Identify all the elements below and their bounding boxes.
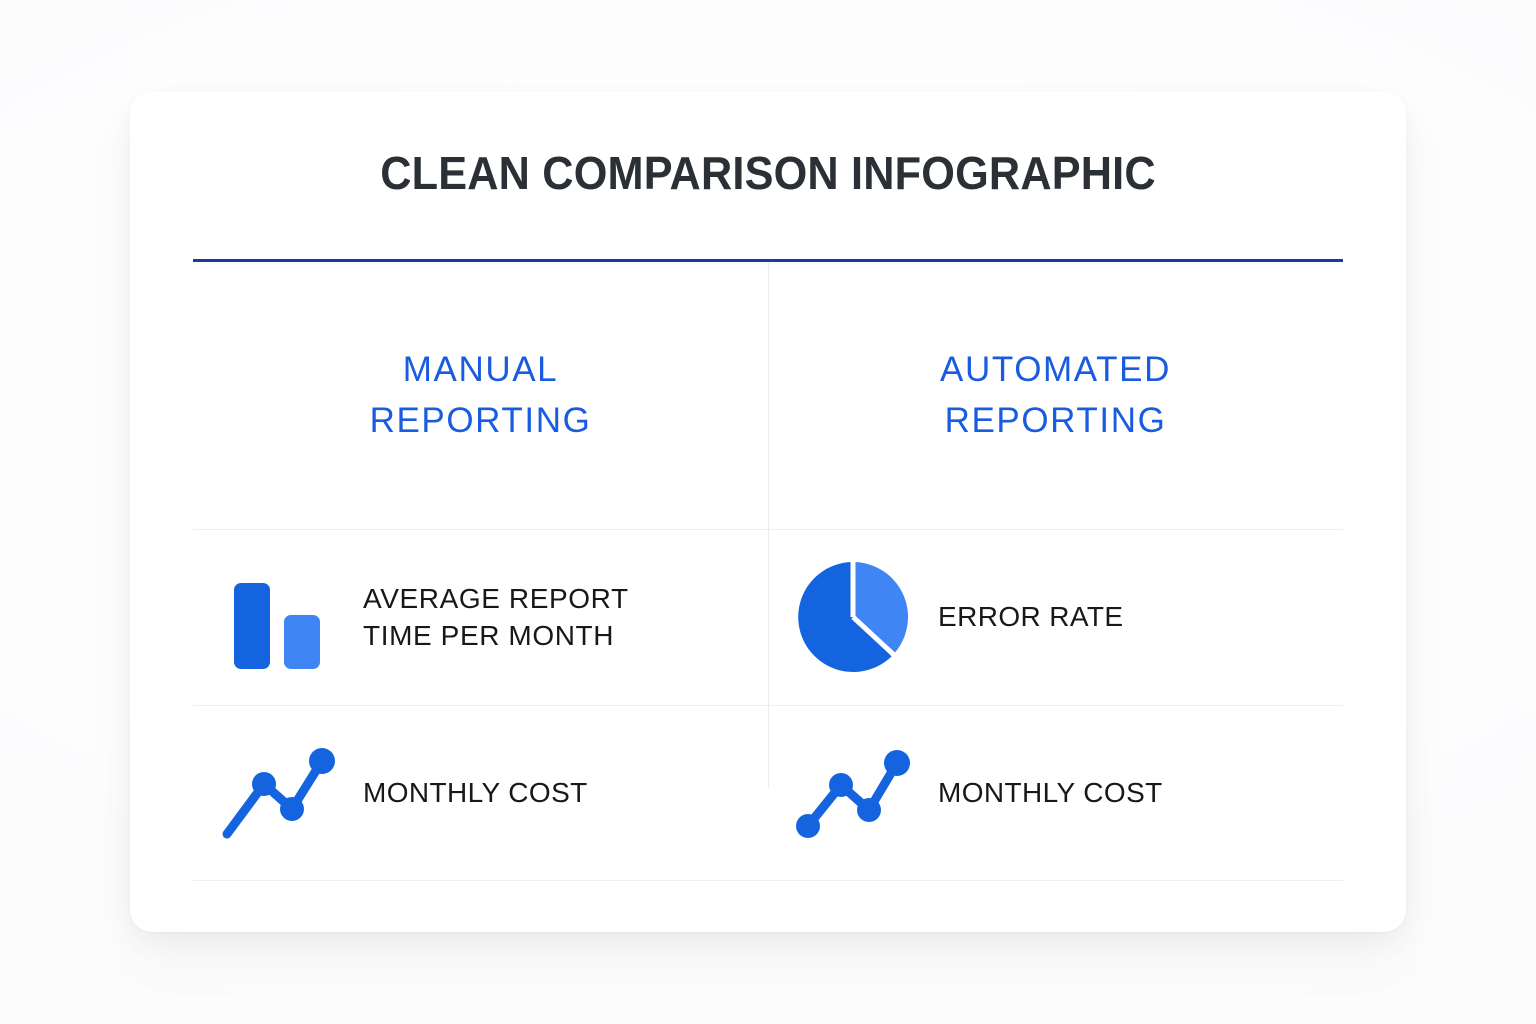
column-header-manual: MANUAL REPORTING (193, 262, 768, 529)
metric-row-error-rate: ERROR RATE (768, 529, 1343, 705)
bar-chart-icon-slot (193, 565, 363, 669)
metric-label-average-report-time: AVERAGE REPORT TIME PER MONTH (363, 580, 629, 654)
line-chart-icon (220, 745, 336, 841)
infographic-card: CLEAN COMPARISON INFOGRAPHIC MANUAL REPO… (130, 92, 1406, 932)
metric-label-error-rate: ERROR RATE (938, 598, 1124, 635)
metric-row-average-report-time: AVERAGE REPORT TIME PER MONTH (193, 529, 768, 705)
line-chart-icon-slot-automated (768, 745, 938, 841)
line-chart-icon (795, 745, 911, 841)
pie-chart-icon-slot (768, 562, 938, 672)
column-header-automated: AUTOMATED REPORTING (768, 262, 1343, 529)
pie-chart-icon (798, 562, 908, 672)
metric-row-monthly-cost-automated: MONTHLY COST (768, 705, 1343, 881)
metric-label-monthly-cost-manual: MONTHLY COST (363, 774, 588, 811)
line-chart-icon-slot-manual (193, 745, 363, 841)
comparison-grid: MANUAL REPORTING AUTOMATED REPORTING AVE… (193, 262, 1343, 788)
page-title: CLEAN COMPARISON INFOGRAPHIC (168, 146, 1367, 200)
metric-row-monthly-cost-manual: MONTHLY COST (193, 705, 768, 881)
bar-chart-icon (232, 565, 324, 669)
column-header-manual-label: MANUAL REPORTING (370, 345, 592, 445)
column-header-automated-label: AUTOMATED REPORTING (940, 345, 1171, 445)
metric-label-monthly-cost-automated: MONTHLY COST (938, 774, 1163, 811)
